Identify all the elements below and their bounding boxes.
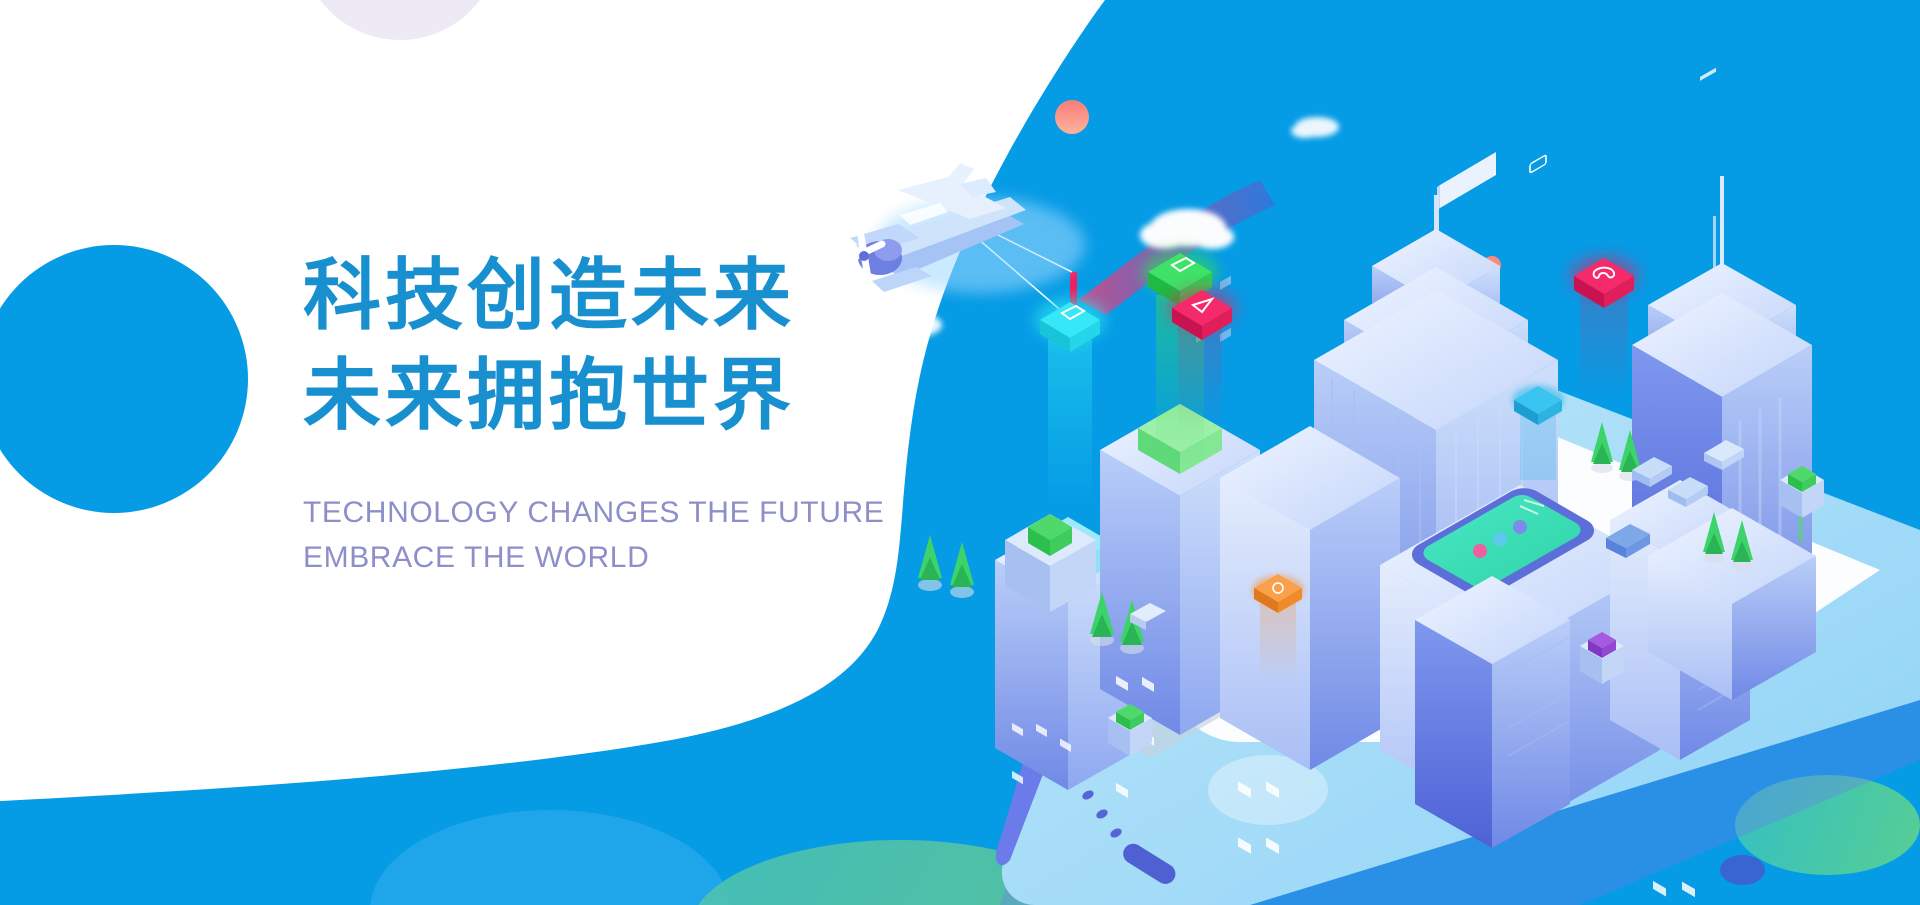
white-wave-panel — [0, 0, 1920, 905]
subtitle-group: TECHNOLOGY CHANGES THE FUTURE EMBRACE TH… — [303, 490, 863, 581]
subtitle-line-2: EMBRACE THE WORLD — [303, 535, 863, 581]
decor-teal-ellipse — [1735, 775, 1920, 875]
hero-banner: 科技创造未来 未来拥抱世界 TECHNOLOGY CHANGES THE FUT… — [0, 0, 1920, 905]
headline-line-1: 科技创造未来 — [303, 246, 863, 346]
text-content: 科技创造未来 未来拥抱世界 TECHNOLOGY CHANGES THE FUT… — [303, 246, 863, 581]
subtitle-line-1: TECHNOLOGY CHANGES THE FUTURE — [303, 490, 863, 536]
headline-line-2: 未来拥抱世界 — [303, 346, 863, 446]
decor-purple-dot — [1720, 855, 1765, 885]
